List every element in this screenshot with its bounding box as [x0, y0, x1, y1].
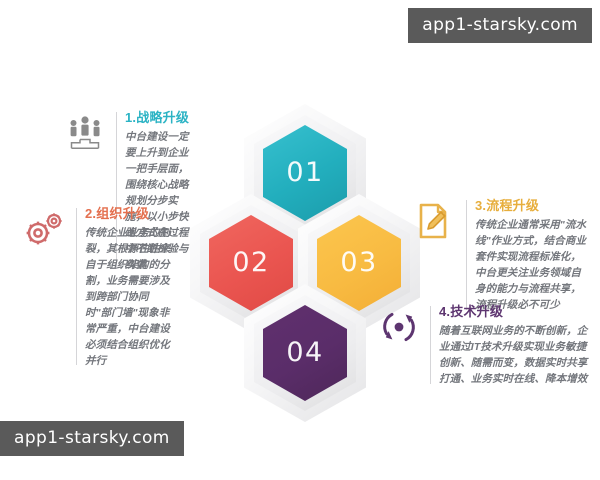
block-divider — [430, 306, 431, 384]
watermark-bottom-left: app1-starsky.com — [0, 421, 184, 456]
hexagon-number: 02 — [232, 247, 269, 278]
hexagon-04[interactable]: 04 — [244, 284, 366, 422]
block-text: 2.组织升级 传统企业业务的割裂，其根源往往来自于组织架构的分割，业务需要涉及到… — [85, 206, 170, 369]
info-block-technology: 4.技术升级 随着互联网业务的不断创新，企业通过IT技术升级实现业务敏捷创新、随… — [376, 304, 588, 388]
watermark-top-right: app1-starsky.com — [408, 8, 592, 43]
block-text: 3.流程升级 传统企业通常采用"流水线"作业方式，结合商业套件实现流程标准化，中… — [475, 198, 588, 314]
infographic-page: { "watermarks": { "top_right": "app1-sta… — [0, 0, 600, 480]
hexagon-number: 04 — [286, 337, 323, 368]
block-body: 传统企业业务的割裂，其根源往往来自于组织架构的分割，业务需要涉及到跨部门协同时"… — [85, 226, 170, 370]
block-body: 传统企业通常采用"流水线"作业方式，结合商业套件实现流程标准化，中台更关注业务领… — [475, 218, 588, 314]
block-text: 4.技术升级 随着互联网业务的不断创新，企业通过IT技术升级实现业务敏捷创新、随… — [439, 304, 588, 388]
sync-arrows-icon — [376, 304, 422, 350]
people-group-icon — [62, 110, 108, 156]
document-pencil-icon — [412, 198, 458, 244]
block-heading: 4.技术升级 — [439, 304, 588, 321]
gears-icon — [22, 206, 68, 252]
block-divider — [466, 200, 467, 310]
block-heading: 2.组织升级 — [85, 206, 170, 223]
info-block-organization: 2.组织升级 传统企业业务的割裂，其根源往往来自于组织架构的分割，业务需要涉及到… — [22, 206, 170, 369]
hexagon-number: 03 — [340, 247, 377, 278]
hexagon-number: 01 — [286, 157, 323, 188]
block-body: 随着互联网业务的不断创新，企业通过IT技术升级实现业务敏捷创新、随需而变，数据实… — [439, 324, 588, 388]
block-divider — [76, 208, 77, 365]
info-block-process: 3.流程升级 传统企业通常采用"流水线"作业方式，结合商业套件实现流程标准化，中… — [412, 198, 588, 314]
block-heading: 3.流程升级 — [475, 198, 588, 215]
block-heading: 1.战略升级 — [125, 110, 194, 127]
